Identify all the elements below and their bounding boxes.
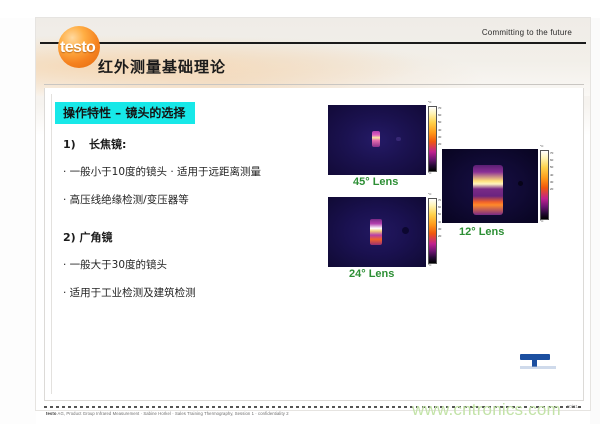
lens-label-12: 12° Lens	[459, 226, 504, 238]
bullet-column: 1)长焦镜: · 一般小于10度的镜头 · 适用于远距离测量 · 高压线绝缘检测…	[63, 136, 313, 316]
section2-bullet-1: · 一般大于30度的镜头	[63, 259, 313, 272]
scale-ticks-12: 706050403020	[550, 152, 553, 195]
scale-ticks-45: 706050403020	[438, 107, 441, 150]
hotspot-12	[473, 165, 503, 215]
slide-number: 10/21	[567, 404, 578, 409]
page-margin-right	[590, 0, 600, 424]
logo-caption-blur	[520, 366, 556, 369]
section1-title: 长焦镜:	[89, 138, 126, 151]
site-watermark: www.cntronics.com	[412, 400, 561, 420]
secondary-spot-12	[518, 181, 523, 186]
section1-bullet-2: · 高压线绝缘检测/变压器等	[63, 194, 313, 207]
testo-logo-text: testo	[60, 39, 112, 57]
slide-canvas: Committing to the future testo 红外测量基础理论 …	[0, 0, 600, 424]
scale-gradient-45	[428, 106, 437, 172]
scale-gradient-12	[540, 150, 549, 220]
footer-detail: AG, Product Group Infrared Measurement ·…	[57, 411, 285, 416]
scale-gradient-24	[428, 198, 437, 264]
secondary-spot-24	[402, 227, 409, 234]
body-left-rule	[51, 94, 52, 394]
lens-label-24: 24° Lens	[349, 268, 394, 280]
thermal-image-45	[327, 104, 427, 176]
section-subtitle: 操作特性 – 镜头的选择	[55, 102, 195, 124]
scale-bottom-label-24: °C	[428, 263, 431, 267]
slide: Committing to the future testo 红外测量基础理论 …	[36, 18, 590, 410]
scale-top-label-45: °C	[428, 100, 431, 104]
section2-heading: 2) 广角镜	[63, 229, 313, 245]
thermal-scene-12	[442, 149, 538, 223]
company-tagline: Committing to the future	[482, 28, 572, 37]
thermal-image-panel: °C 706050403020 °C 45° Lens °C	[323, 96, 575, 388]
scale-top-label-12: °C	[540, 144, 543, 148]
page-margin-left	[0, 0, 36, 424]
footer-brand: testo	[46, 411, 57, 416]
secondary-logo-icon	[520, 354, 556, 370]
lens-label-45: 45° Lens	[353, 176, 398, 188]
secondary-spot-45	[396, 137, 401, 141]
thermal-image-12	[441, 148, 539, 224]
thermal-scene-24	[328, 197, 426, 267]
section2-bullet-2: · 适用于工业检测及建筑检测	[63, 287, 313, 300]
scale-bottom-label-12: °C	[540, 219, 543, 223]
hotspot-45	[372, 131, 380, 147]
header-rule	[40, 42, 586, 44]
slide-body: 操作特性 – 镜头的选择 1)长焦镜: · 一般小于10度的镜头 · 适用于远距…	[44, 88, 584, 401]
hotspot-24	[370, 219, 382, 245]
section1-number: 1)	[63, 138, 89, 151]
slide-title: 红外测量基础理论	[98, 56, 226, 77]
footer-credit: testo AG, Product Group Infrared Measure…	[46, 411, 289, 416]
section1-bullet-1: · 一般小于10度的镜头 · 适用于远距离测量	[63, 166, 313, 179]
scale-top-label-24: °C	[428, 192, 431, 196]
scale-bottom-label-45: °C	[428, 171, 431, 175]
footer-page: 2	[286, 411, 288, 416]
section1-heading: 1)长焦镜:	[63, 136, 313, 152]
thermal-scene-45	[328, 105, 426, 175]
title-divider	[44, 84, 584, 85]
thermal-image-24	[327, 196, 427, 268]
page-margin-top	[0, 0, 600, 18]
